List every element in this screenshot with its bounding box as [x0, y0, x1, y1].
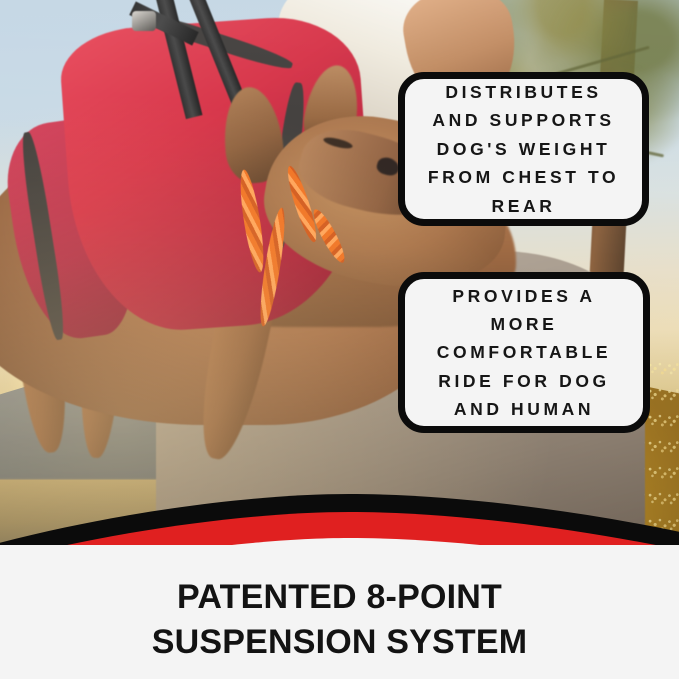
feature-callout-2: Provides a more comfortable ride for dog…: [398, 272, 650, 433]
feature-callout-2-text: Provides a more comfortable ride for dog…: [437, 282, 611, 424]
footer-banner: Patented 8-point Suspension System: [0, 545, 679, 679]
feature-callout-1: Distributes and supports dog's weight fr…: [398, 72, 649, 226]
harness-buckle: [132, 11, 156, 31]
feature-callout-1-text: Distributes and supports dog's weight fr…: [428, 78, 619, 220]
footer-title: Patented 8-point Suspension System: [152, 575, 528, 665]
product-feature-card: Distributes and supports dog's weight fr…: [0, 0, 679, 679]
